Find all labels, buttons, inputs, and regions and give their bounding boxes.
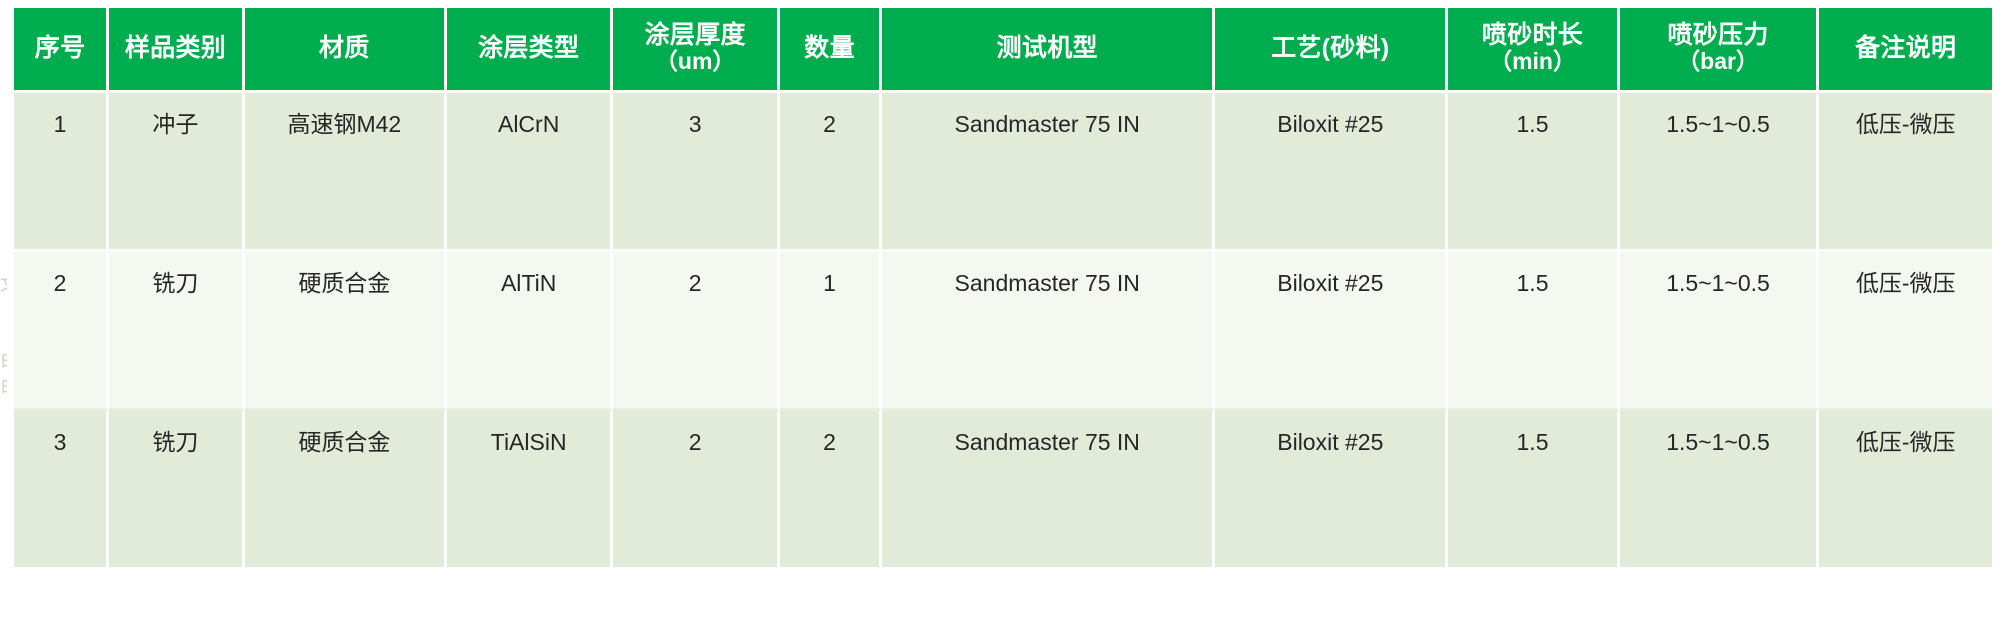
cell-coating-thickness: 3 xyxy=(613,93,780,252)
cell-index: 2 xyxy=(14,252,109,411)
cell-process-media: Biloxit #25 xyxy=(1215,93,1448,252)
cell-sample-category: 冲子 xyxy=(109,93,245,252)
cell-material: 硬质合金 xyxy=(245,411,447,567)
cell-quantity: 1 xyxy=(780,252,882,411)
table-row: 3 铣刀 硬质合金 TiAlSiN 2 2 Sandmaster 75 IN B… xyxy=(14,411,1992,567)
column-header-blast-time: 喷砂时长 （min） xyxy=(1448,8,1619,93)
table-body: 1 冲子 高速钢M42 AlCrN 3 2 Sandmaster 75 IN B… xyxy=(14,93,1992,567)
cell-coating-thickness: 2 xyxy=(613,411,780,567)
cell-remark: 低压-微压 xyxy=(1819,411,1992,567)
cell-blast-pressure: 1.5~1~0.5 xyxy=(1620,252,1820,411)
column-header-label: 序号 xyxy=(35,34,86,62)
cell-blast-time: 1.5 xyxy=(1448,93,1619,252)
left-edge-text-fragment: 文 xyxy=(0,272,7,298)
column-header-remark: 备注说明 xyxy=(1819,8,1992,93)
spec-table-container: 序号 样品类别 材质 涂层类型 涂层厚度 （um） 数量 xyxy=(14,8,1992,567)
cell-sample-category: 铣刀 xyxy=(109,411,245,567)
cell-material: 硬质合金 xyxy=(245,252,447,411)
column-header-coating-thickness: 涂层厚度 （um） xyxy=(613,8,780,93)
table-header-row: 序号 样品类别 材质 涂层类型 涂层厚度 （um） 数量 xyxy=(14,8,1992,93)
column-header-label: 数量 xyxy=(804,34,855,62)
column-header-unit: （bar） xyxy=(1622,49,1815,75)
column-header-unit: （um） xyxy=(615,49,775,75)
cell-coating-type: AlTiN xyxy=(447,252,614,411)
column-header-label: 备注说明 xyxy=(1855,34,1956,62)
table-header: 序号 样品类别 材质 涂层类型 涂层厚度 （um） 数量 xyxy=(14,8,1992,93)
cell-blast-pressure: 1.5~1~0.5 xyxy=(1620,411,1820,567)
cell-sample-category: 铣刀 xyxy=(109,252,245,411)
cell-coating-thickness: 2 xyxy=(613,252,780,411)
cell-quantity: 2 xyxy=(780,411,882,567)
column-header-index: 序号 xyxy=(14,8,109,93)
cell-blast-time: 1.5 xyxy=(1448,411,1619,567)
column-header-sample-category: 样品类别 xyxy=(109,8,245,93)
column-header-quantity: 数量 xyxy=(780,8,882,93)
column-header-blast-pressure: 喷砂压力 （bar） xyxy=(1620,8,1820,93)
column-header-test-machine: 测试机型 xyxy=(882,8,1215,93)
column-header-label: 涂层厚度 xyxy=(645,21,746,49)
column-header-label: 喷砂压力 xyxy=(1667,21,1768,49)
cell-coating-type: TiAlSiN xyxy=(447,411,614,567)
cell-test-machine: Sandmaster 75 IN xyxy=(882,411,1215,567)
column-header-label: 样品类别 xyxy=(125,34,226,62)
cell-remark: 低压-微压 xyxy=(1819,252,1992,411)
cell-material: 高速钢M42 xyxy=(245,93,447,252)
column-header-unit: （min） xyxy=(1450,49,1614,75)
cell-coating-type: AlCrN xyxy=(447,93,614,252)
column-header-label: 材质 xyxy=(319,34,370,62)
cell-process-media: Biloxit #25 xyxy=(1215,252,1448,411)
cell-blast-time: 1.5 xyxy=(1448,252,1619,411)
column-header-process-media: 工艺(砂料) xyxy=(1215,8,1448,93)
column-header-label: 涂层类型 xyxy=(478,34,579,62)
sample-test-spec-table: 序号 样品类别 材质 涂层类型 涂层厚度 （um） 数量 xyxy=(14,8,1992,567)
table-row: 1 冲子 高速钢M42 AlCrN 3 2 Sandmaster 75 IN B… xyxy=(14,93,1992,252)
column-header-material: 材质 xyxy=(245,8,447,93)
cell-remark: 低压-微压 xyxy=(1819,93,1992,252)
column-header-label: 工艺(砂料) xyxy=(1271,34,1389,62)
cell-index: 1 xyxy=(14,93,109,252)
column-header-coating-type: 涂层类型 xyxy=(447,8,614,93)
cell-blast-pressure: 1.5~1~0.5 xyxy=(1620,93,1820,252)
left-edge-text-fragment: 白 xyxy=(0,374,7,400)
cell-test-machine: Sandmaster 75 IN xyxy=(882,252,1215,411)
column-header-label: 测试机型 xyxy=(997,34,1098,62)
cell-index: 3 xyxy=(14,411,109,567)
left-edge-text-fragment: 白 xyxy=(0,348,7,374)
column-header-label: 喷砂时长 xyxy=(1482,21,1583,49)
cell-quantity: 2 xyxy=(780,93,882,252)
table-row: 2 铣刀 硬质合金 AlTiN 2 1 Sandmaster 75 IN Bil… xyxy=(14,252,1992,411)
cell-process-media: Biloxit #25 xyxy=(1215,411,1448,567)
cell-test-machine: Sandmaster 75 IN xyxy=(882,93,1215,252)
